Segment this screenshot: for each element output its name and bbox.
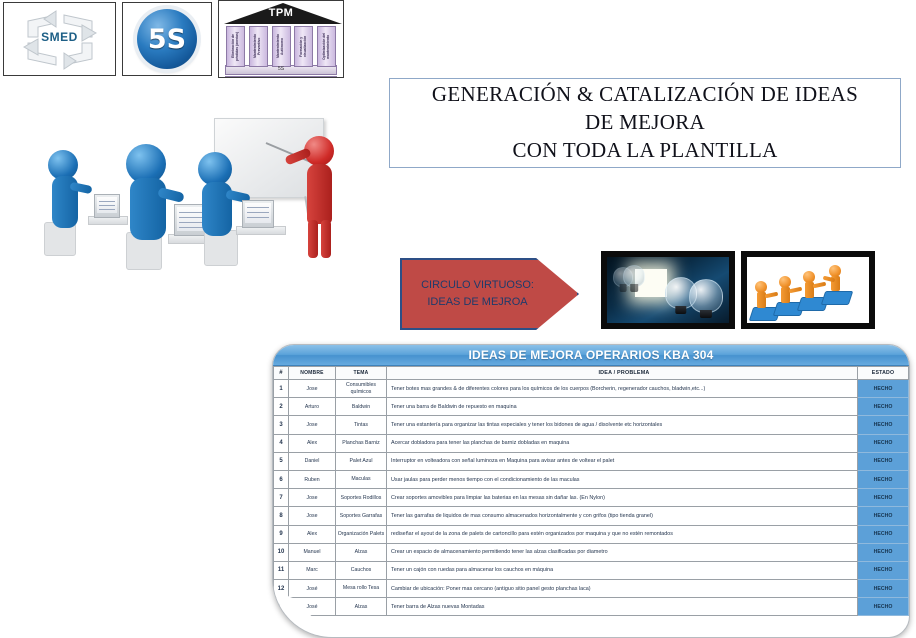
row-idea: rediseñar el ayout de la zona de palets … xyxy=(387,525,858,543)
row-idea: Crear un espacio de almacenamiento permi… xyxy=(387,543,858,561)
tpm-pillar: Mantenimiento Autónomo xyxy=(272,26,291,67)
bulb-icon xyxy=(623,265,645,287)
row-nombre: Alex xyxy=(289,525,336,543)
row-estado: HECHO xyxy=(858,489,909,507)
row-number: 4 xyxy=(274,434,289,452)
row-idea: Tener barra de Alzas nuevas Montadas xyxy=(387,598,858,616)
row-number: 3 xyxy=(274,416,289,434)
tpm-pillar: Eliminación de pérdidas (averías) xyxy=(226,26,245,67)
row-estado: HECHO xyxy=(858,598,909,616)
row-number: 13 xyxy=(274,598,289,616)
row-estado: HECHO xyxy=(858,380,909,398)
tpm-logo: TPM Eliminación de pérdidas (averías) Ma… xyxy=(218,0,344,78)
col-header-tema: TEMA xyxy=(336,367,387,380)
five-s-label: 5S xyxy=(148,24,186,55)
row-tema: Organización Palets xyxy=(336,525,387,543)
table-row[interactable]: 13JoséAlzasTener barra de Alzas nuevas M… xyxy=(274,598,909,616)
callout-line-2: IDEAS DE MEJROA xyxy=(427,294,527,311)
row-estado: HECHO xyxy=(858,525,909,543)
title-line-3: CON TODA LA PLANTILLA xyxy=(512,137,777,165)
row-estado: HECHO xyxy=(858,580,909,598)
ideas-table: # NOMBRE TEMA IDEA / PROBLEMA ESTADO 1Jo… xyxy=(273,366,909,616)
row-idea: Tener las garrafas de liquidos de mas co… xyxy=(387,507,858,525)
tpm-pillars: Eliminación de pérdidas (averías) Manten… xyxy=(222,25,340,65)
title-line-1: GENERACIÓN & CATALIZACIÓN DE IDEAS xyxy=(432,81,858,109)
row-estado: HECHO xyxy=(858,561,909,579)
row-nombre: Marc xyxy=(289,561,336,579)
row-nombre: José xyxy=(289,598,336,616)
row-tema: Mesa rollo Tesa xyxy=(336,580,387,598)
row-number: 10 xyxy=(274,543,289,561)
row-estado: HECHO xyxy=(858,398,909,416)
row-number: 5 xyxy=(274,452,289,470)
row-number: 11 xyxy=(274,561,289,579)
row-number: 7 xyxy=(274,489,289,507)
recycle-arrows-icon: SMED xyxy=(4,3,115,75)
table-row[interactable]: 7JoseSoportes RodillosCrear soportes amo… xyxy=(274,489,909,507)
row-estado: HECHO xyxy=(858,543,909,561)
row-tema: Soportes Rodillos xyxy=(336,489,387,507)
five-s-logo: 5S xyxy=(122,2,212,76)
table-row[interactable]: 8JoseSoportes GarrafasTener las garrafas… xyxy=(274,507,909,525)
five-s-badge-icon: 5S xyxy=(137,9,197,69)
col-header-estado: ESTADO xyxy=(858,367,909,380)
row-nombre: Jose xyxy=(289,416,336,434)
row-tema: Maculas xyxy=(336,470,387,488)
row-idea: Tener una barra de Baldwin de repuesto e… xyxy=(387,398,858,416)
row-nombre: Ruben xyxy=(289,470,336,488)
ideas-table-body: 1JoseConsumibles químicosTener botes mas… xyxy=(274,380,909,616)
col-header-idea: IDEA / PROBLEMA xyxy=(387,367,858,380)
row-idea: Crear soportes amovibles para limpiar la… xyxy=(387,489,858,507)
row-nombre: Jose xyxy=(289,489,336,507)
lightbulbs-photo xyxy=(601,251,735,329)
row-nombre: Arturo xyxy=(289,398,336,416)
row-estado: HECHO xyxy=(858,434,909,452)
col-header-number: # xyxy=(274,367,289,380)
table-row[interactable]: 5DanielPalet AzulInterruptor en volteado… xyxy=(274,452,909,470)
table-row[interactable]: 2ArturoBaldwinTener una barra de Baldwin… xyxy=(274,398,909,416)
row-idea: Usar jaulas para perder menos tiempo con… xyxy=(387,470,858,488)
tpm-temple-icon: TPM Eliminación de pérdidas (averías) Ma… xyxy=(219,1,343,77)
row-tema: Baldwin xyxy=(336,398,387,416)
smed-logo: SMED xyxy=(3,2,116,76)
row-tema: Alzas xyxy=(336,543,387,561)
tpm-foundation-label: Organización orientada a la Mejora Conti… xyxy=(225,76,337,78)
puzzle-piece xyxy=(821,291,854,305)
row-tema: Consumibles químicos xyxy=(336,380,387,398)
row-estado: HECHO xyxy=(858,507,909,525)
bulb-icon xyxy=(689,279,723,313)
tpm-roof-label: TPM xyxy=(222,7,340,19)
row-tema: Planchas Barniz xyxy=(336,434,387,452)
row-nombre: Daniel xyxy=(289,452,336,470)
row-estado: HECHO xyxy=(858,470,909,488)
sheet-title: IDEAS DE MEJORA OPERARIOS KBA 304 xyxy=(273,345,909,366)
teamwork-puzzle-photo xyxy=(741,251,875,329)
row-number: 8 xyxy=(274,507,289,525)
row-nombre: Jose xyxy=(289,380,336,398)
classroom-illustration xyxy=(8,112,378,282)
row-tema: Alzas xyxy=(336,598,387,616)
col-header-nombre: NOMBRE xyxy=(289,367,336,380)
row-idea: Acercar dobladora para tener las plancha… xyxy=(387,434,858,452)
ideas-table-sheet: IDEAS DE MEJORA OPERARIOS KBA 304 # NOMB… xyxy=(272,344,910,638)
tpm-pillar: Formación y visualización xyxy=(294,26,313,67)
title-line-2: DE MEJORA xyxy=(585,109,705,137)
row-number: 6 xyxy=(274,470,289,488)
row-nombre: Jose xyxy=(289,507,336,525)
table-row[interactable]: 12JoséMesa rollo TesaCambiar de ubicació… xyxy=(274,580,909,598)
table-row[interactable]: 1JoseConsumibles químicosTener botes mas… xyxy=(274,380,909,398)
row-tema: Soportes Garrafas xyxy=(336,507,387,525)
row-idea: Interruptor en volteadora con señal lumi… xyxy=(387,452,858,470)
table-row[interactable]: 11MarcCauchosTener un cajón con ruedas p… xyxy=(274,561,909,579)
row-nombre: José xyxy=(289,580,336,598)
table-row[interactable]: 6RubenMaculasUsar jaulas para perder men… xyxy=(274,470,909,488)
row-idea: Tener un cajón con ruedas para almacenar… xyxy=(387,561,858,579)
table-row[interactable]: 9AlexOrganización Paletsrediseñar el ayo… xyxy=(274,525,909,543)
row-idea: Tener una estantería para organizar las … xyxy=(387,416,858,434)
row-tema: Cauchos xyxy=(336,561,387,579)
tpm-pillar: Optimización del mantenimiento xyxy=(317,26,336,67)
row-nombre: Alex xyxy=(289,434,336,452)
circulo-virtuoso-callout: CIRCULO VIRTUOSO: IDEAS DE MEJROA xyxy=(400,258,579,330)
row-number: 2 xyxy=(274,398,289,416)
row-estado: HECHO xyxy=(858,452,909,470)
row-tema: Palet Azul xyxy=(336,452,387,470)
tpm-pillar: Mantenimiento Preventivo xyxy=(249,26,268,67)
row-idea: Cambiar de ubicación: Poner mas cercano … xyxy=(387,580,858,598)
table-row[interactable]: 10ManuelAlzasCrear un espacio de almacen… xyxy=(274,543,909,561)
table-row[interactable]: 3JoseTintasTener una estantería para org… xyxy=(274,416,909,434)
row-estado: HECHO xyxy=(858,416,909,434)
tpm-roof: TPM xyxy=(222,3,340,25)
row-number: 9 xyxy=(274,525,289,543)
row-idea: Tener botes mas grandes & de diferentes … xyxy=(387,380,858,398)
table-row[interactable]: 4AlexPlanchas BarnizAcercar dobladora pa… xyxy=(274,434,909,452)
row-number: 12 xyxy=(274,580,289,598)
row-tema: Tintas xyxy=(336,416,387,434)
row-nombre: Manuel xyxy=(289,543,336,561)
slide-canvas: SMED 5S TPM Eliminación de pérdidas (ave… xyxy=(0,0,916,636)
page-title: GENERACIÓN & CATALIZACIÓN DE IDEAS DE ME… xyxy=(389,78,901,168)
table-header-row: # NOMBRE TEMA IDEA / PROBLEMA ESTADO xyxy=(274,367,909,380)
row-number: 1 xyxy=(274,380,289,398)
smed-label: SMED xyxy=(4,30,115,44)
callout-line-1: CIRCULO VIRTUOSO: xyxy=(421,277,534,294)
